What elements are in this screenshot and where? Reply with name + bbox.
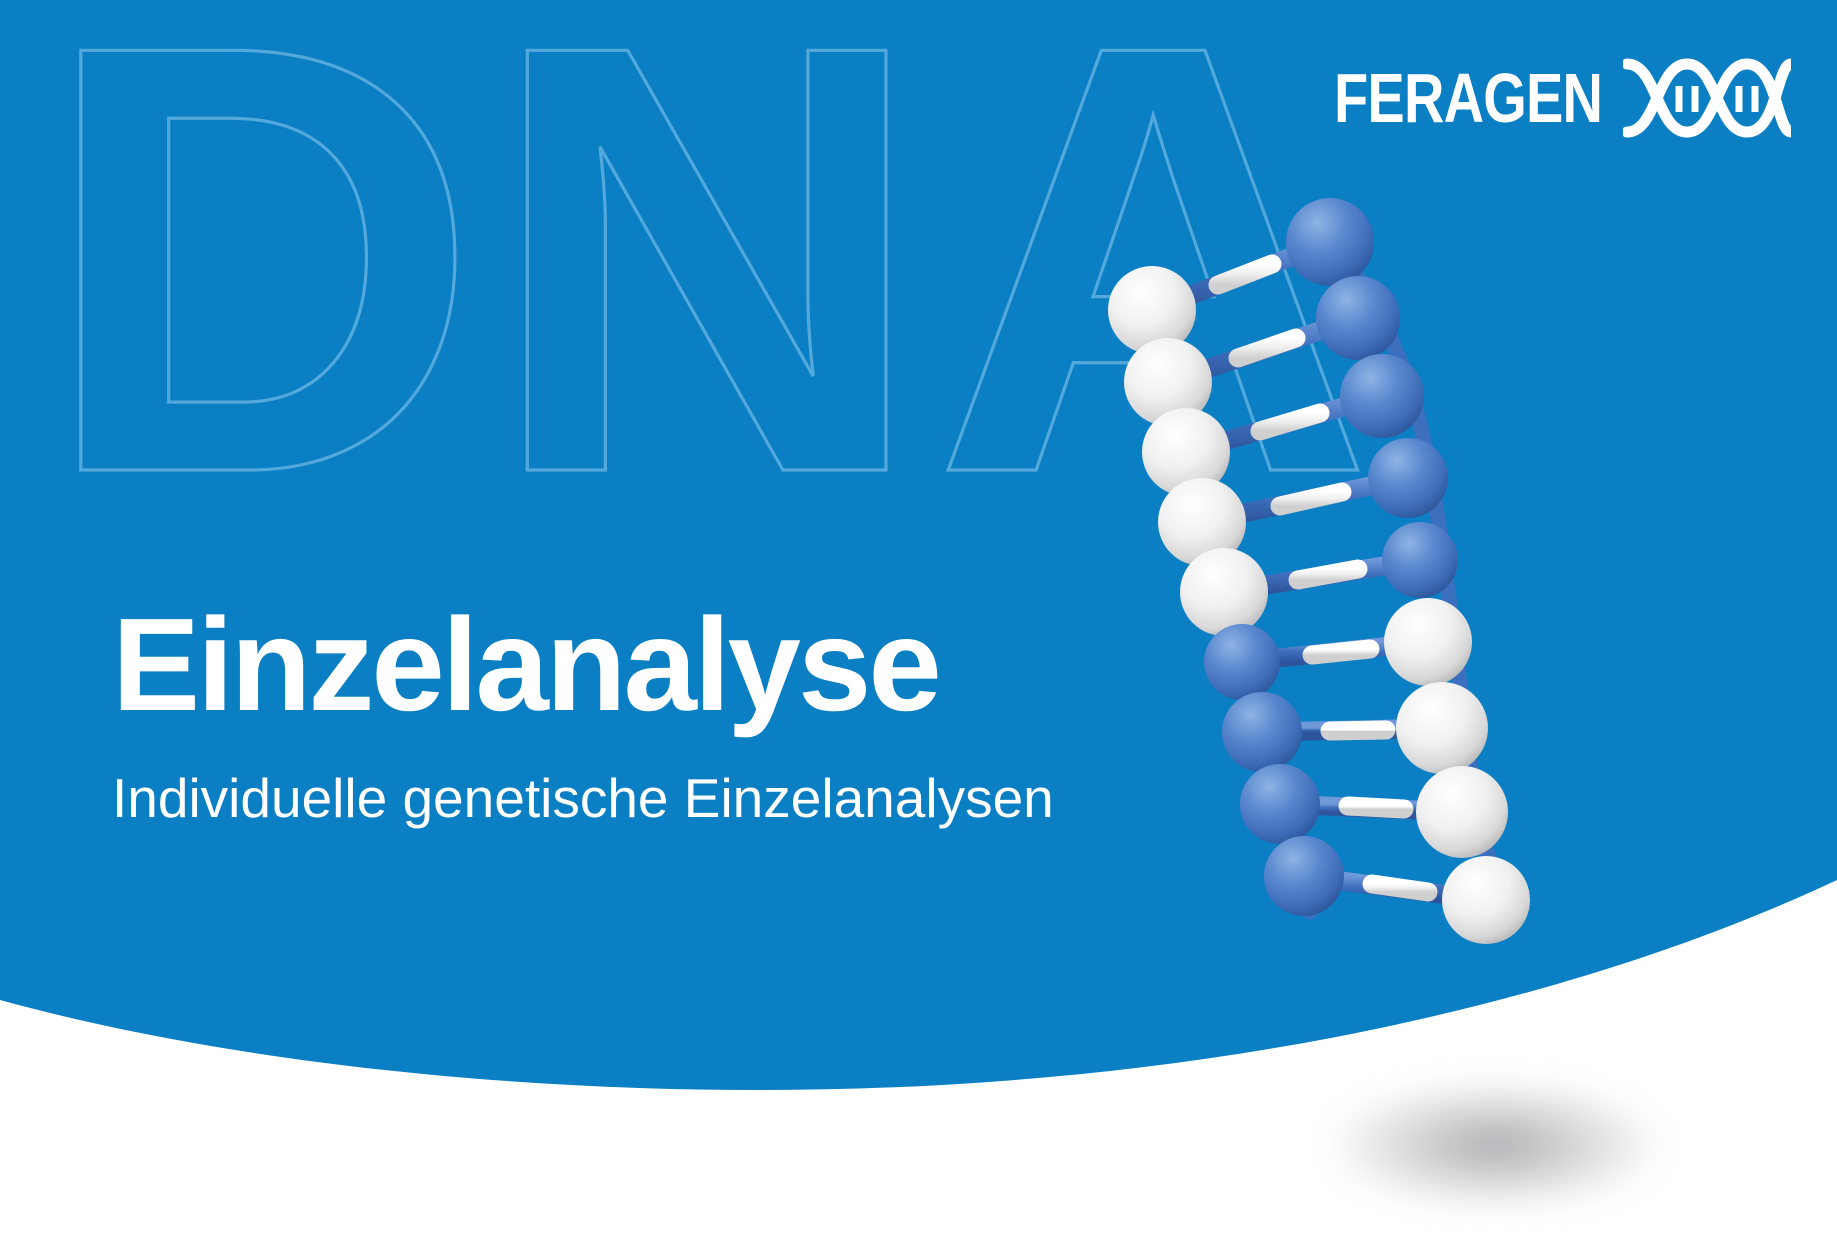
dna-node — [1384, 598, 1472, 686]
dna-node — [1316, 276, 1400, 360]
dna-node — [1368, 438, 1448, 518]
dna-node — [1416, 766, 1508, 858]
dna-node — [1286, 198, 1374, 286]
dna-helix-icon — [1623, 56, 1791, 140]
dna-node — [1396, 682, 1488, 774]
dna-node — [1264, 836, 1344, 916]
headline-block: Einzelanalyse Individuelle genetische Ei… — [112, 598, 1172, 830]
dna-analysis-banner: DNA FERAGEN — [0, 0, 1837, 1252]
brand-logo[interactable]: FERAGEN — [1334, 56, 1791, 140]
page-subtitle: Individuelle genetische Einzelanalysen — [112, 766, 1172, 830]
dna-node — [1204, 624, 1280, 700]
page-title: Einzelanalyse — [112, 598, 1172, 732]
dna-node — [1222, 692, 1302, 772]
dna-node — [1240, 764, 1320, 844]
dna-node — [1180, 548, 1268, 636]
model-drop-shadow — [1330, 1080, 1660, 1210]
dna-node — [1442, 856, 1530, 944]
dna-double-helix-model — [1090, 200, 1650, 960]
dna-node — [1340, 354, 1424, 438]
dna-node — [1382, 522, 1458, 598]
logo-wordmark: FERAGEN — [1334, 63, 1602, 133]
